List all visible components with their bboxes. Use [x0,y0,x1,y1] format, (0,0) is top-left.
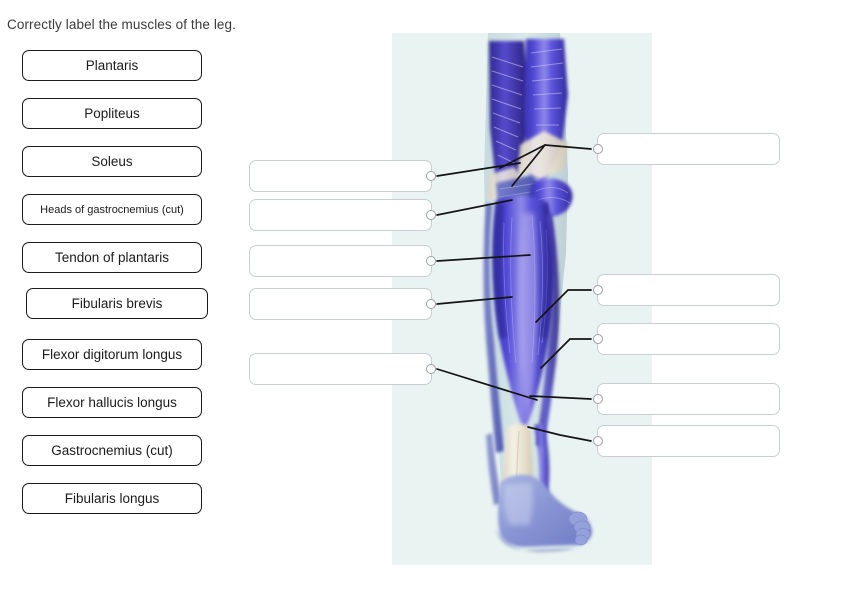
answer-target-right-4[interactable] [597,383,780,415]
target-connector-dot [426,171,436,181]
target-connector-dot [426,256,436,266]
answer-target-value [250,354,431,384]
word-bank-item-7[interactable]: Flexor hallucis longus [22,387,202,418]
answer-target-right-5[interactable] [597,425,780,457]
target-connector-dot [593,394,603,404]
target-connector-dot [593,285,603,295]
target-connector-dot [426,210,436,220]
target-connector-dot [426,299,436,309]
answer-target-value [250,289,431,319]
answer-target-value [250,246,431,276]
word-bank-item-0[interactable]: Plantaris [22,50,202,81]
answer-target-left-4[interactable] [249,288,432,320]
answer-target-value [250,161,431,191]
answer-target-value [598,275,779,305]
word-bank-item-6[interactable]: Flexor digitorum longus [22,339,202,370]
answer-target-left-2[interactable] [249,199,432,231]
word-bank-item-4[interactable]: Tendon of plantaris [22,242,202,273]
target-connector-dot [593,144,603,154]
answer-target-right-1[interactable] [597,133,780,165]
word-bank-item-1[interactable]: Popliteus [22,98,202,129]
answer-target-right-2[interactable] [597,274,780,306]
answer-target-left-3[interactable] [249,245,432,277]
target-connector-dot [593,436,603,446]
target-connector-dot [593,334,603,344]
answer-target-value [598,384,779,414]
word-bank-item-9[interactable]: Fibularis longus [22,483,202,514]
answer-target-left-1[interactable] [249,160,432,192]
answer-target-value [598,426,779,456]
page-title: Correctly label the muscles of the leg. [7,17,236,32]
target-connector-dot [426,364,436,374]
answer-target-right-3[interactable] [597,323,780,355]
answer-target-value [598,324,779,354]
word-bank-item-5[interactable]: Fibularis brevis [26,288,208,319]
word-bank-item-8[interactable]: Gastrocnemius (cut) [22,435,202,466]
answer-target-left-5[interactable] [249,353,432,385]
word-bank-item-2[interactable]: Soleus [22,146,202,177]
answer-target-value [250,200,431,230]
answer-target-value [598,134,779,164]
word-bank-item-3[interactable]: Heads of gastrocnemius (cut) [22,194,202,225]
